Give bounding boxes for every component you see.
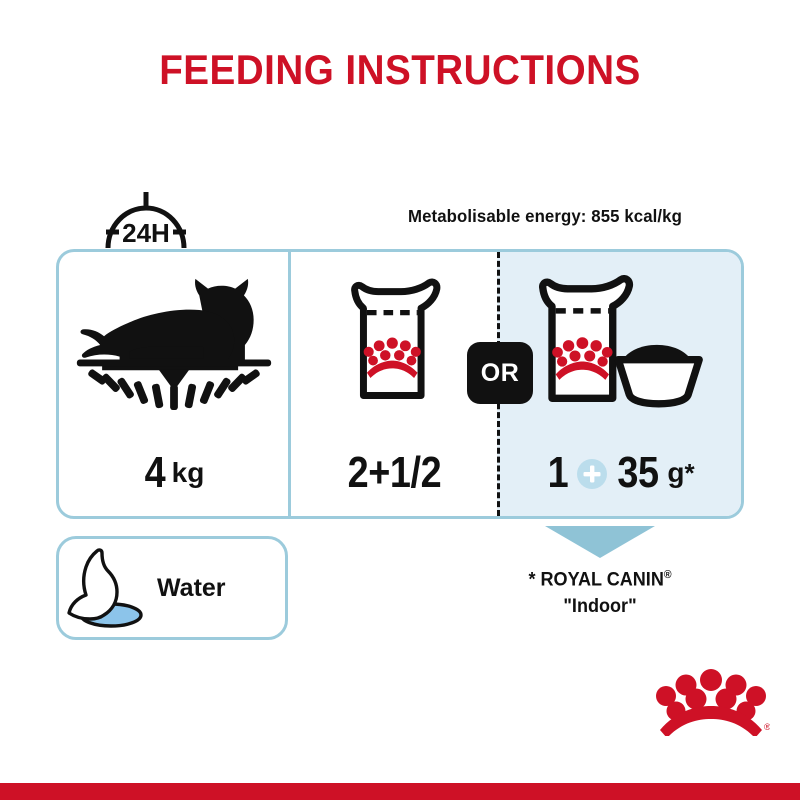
- page-title: FEEDING INSTRUCTIONS: [32, 46, 768, 94]
- metabolisable-energy-text: Metabolisable energy: 855 kcal/kg: [339, 206, 752, 227]
- cat-weight-value: 4 kg: [59, 430, 288, 516]
- royal-canin-crown-logo: ®: [652, 666, 770, 736]
- wet-only-number: 2+1/2: [347, 448, 441, 498]
- table-column-cat-weight: 4 kg: [59, 252, 291, 516]
- down-arrow-icon: [545, 524, 655, 558]
- cat-on-scale-icon: [59, 252, 288, 430]
- water-box: Water: [56, 536, 288, 640]
- bowl-icon: [618, 345, 699, 404]
- duration-24h-label: 24H: [122, 218, 170, 248]
- wet-plus-dry-value: 1 35 g *: [500, 430, 741, 516]
- footnote: * ROYAL CANIN® "Indoor": [477, 562, 724, 620]
- bottom-red-bar: [0, 783, 800, 800]
- table-column-wet-plus-dry: 1 35 g *: [497, 252, 741, 516]
- wet-plus-dry-unit: g: [667, 457, 684, 489]
- registered-mark: ®: [664, 569, 672, 581]
- wet-plus-dry-footnote-mark: *: [684, 458, 694, 489]
- feeding-instructions-page: FEEDING INSTRUCTIONS 24H Metabolisable e…: [0, 0, 800, 800]
- pouch-icon: [291, 252, 497, 430]
- registered-mark: ®: [764, 722, 770, 732]
- footnote-mark: *: [528, 569, 535, 590]
- footnote-line-2: "Indoor": [477, 593, 724, 620]
- plus-icon: [577, 459, 607, 489]
- duration-24h-badge: 24H: [92, 186, 200, 248]
- cat-drinking-water-icon: [59, 539, 155, 637]
- feeding-table: 4 kg: [56, 249, 744, 519]
- or-separator-badge: OR: [467, 342, 533, 404]
- footnote-line-1: * ROYAL CANIN®: [477, 562, 724, 593]
- cat-weight-unit: kg: [172, 457, 205, 489]
- footnote-brand: ROYAL CANIN: [540, 569, 663, 590]
- wet-only-value: 2+1/2: [291, 430, 497, 516]
- pouch-and-bowl-icon: [500, 252, 741, 430]
- water-label: Water: [157, 574, 226, 603]
- wet-plus-dry-pouch-count: 1: [548, 448, 569, 498]
- cat-weight-number: 4: [144, 448, 165, 498]
- wet-plus-dry-grams: 35: [618, 448, 659, 498]
